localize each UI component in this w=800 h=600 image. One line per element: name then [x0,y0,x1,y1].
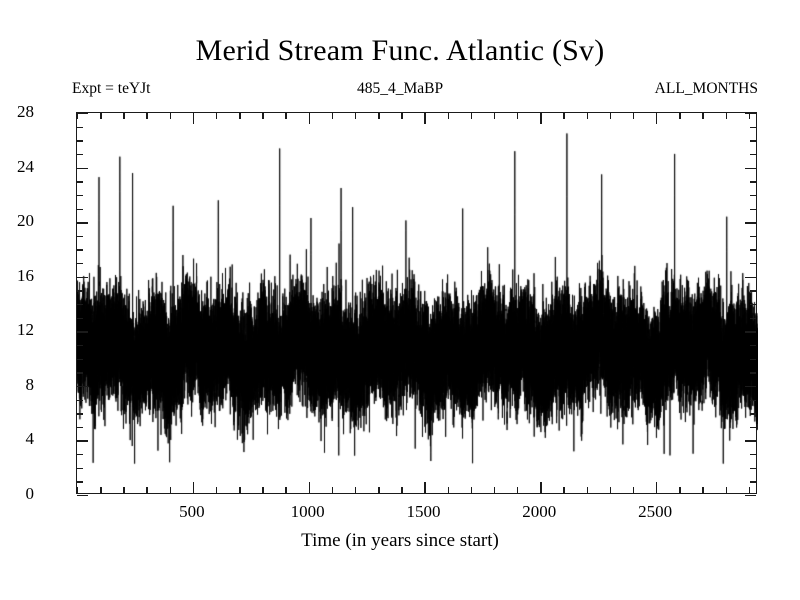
x-axis-title: Time (in years since start) [0,530,800,552]
x-tick-label: 1000 [268,502,348,522]
chart-page: Merid Stream Func. Atlantic (Sv) Expt = … [0,0,800,600]
x-tick-label: 1500 [383,502,463,522]
x-tick-label: 2000 [499,502,579,522]
x-tick-label: 2500 [615,502,695,522]
x-axis-tick-labels: 5001000150020002500 [0,0,800,600]
x-tick-label: 500 [152,502,232,522]
